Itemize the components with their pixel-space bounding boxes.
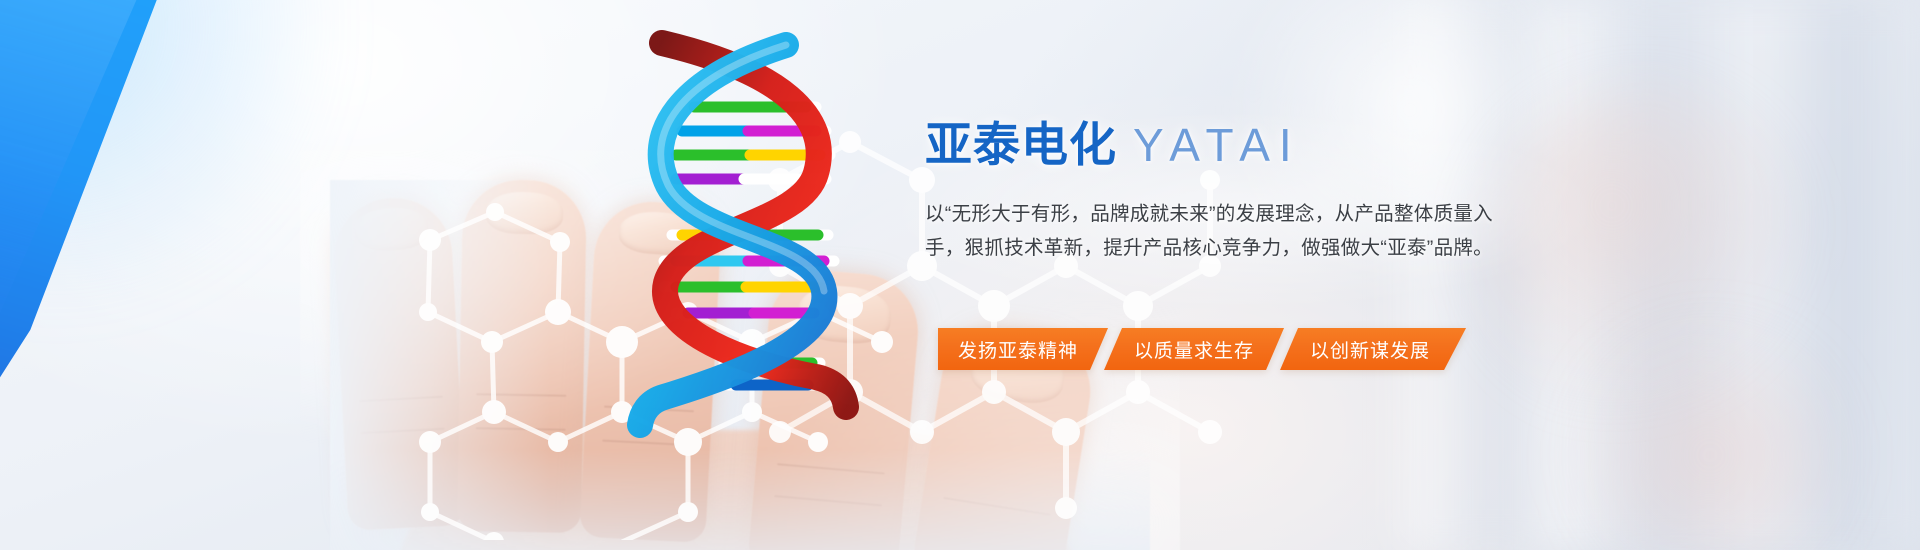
page-title: 亚泰电化YATAI — [925, 120, 1565, 169]
slogan-tag-3[interactable]: 以创新谋发展 — [1280, 328, 1466, 370]
description-line-2: 手，狠抓技术革新，提升产品核心竞争力，做强做大“亚泰”品牌。 — [925, 231, 1565, 265]
dna-helix-icon — [620, 25, 880, 445]
slogan-tag-2[interactable]: 以质量求生存 — [1104, 328, 1284, 370]
banner-content: 亚泰电化YATAI 以“无形大于有形，品牌成就未来”的发展理念，从产品整体质量入… — [925, 120, 1565, 265]
slogan-tag-1[interactable]: 发扬亚泰精神 — [938, 328, 1108, 370]
slogan-tag-group: 发扬亚泰精神 以质量求生存 以创新谋发展 — [938, 328, 1466, 370]
title-chinese: 亚泰电化 — [925, 118, 1117, 171]
banner-description: 以“无形大于有形，品牌成就未来”的发展理念，从产品整体质量入 手，狠抓技术革新，… — [925, 197, 1565, 265]
title-english: YATAI — [1133, 119, 1301, 171]
description-line-1: 以“无形大于有形，品牌成就未来”的发展理念，从产品整体质量入 — [925, 197, 1565, 231]
hero-banner: 亚泰电化YATAI 以“无形大于有形，品牌成就未来”的发展理念，从产品整体质量入… — [0, 0, 1920, 550]
